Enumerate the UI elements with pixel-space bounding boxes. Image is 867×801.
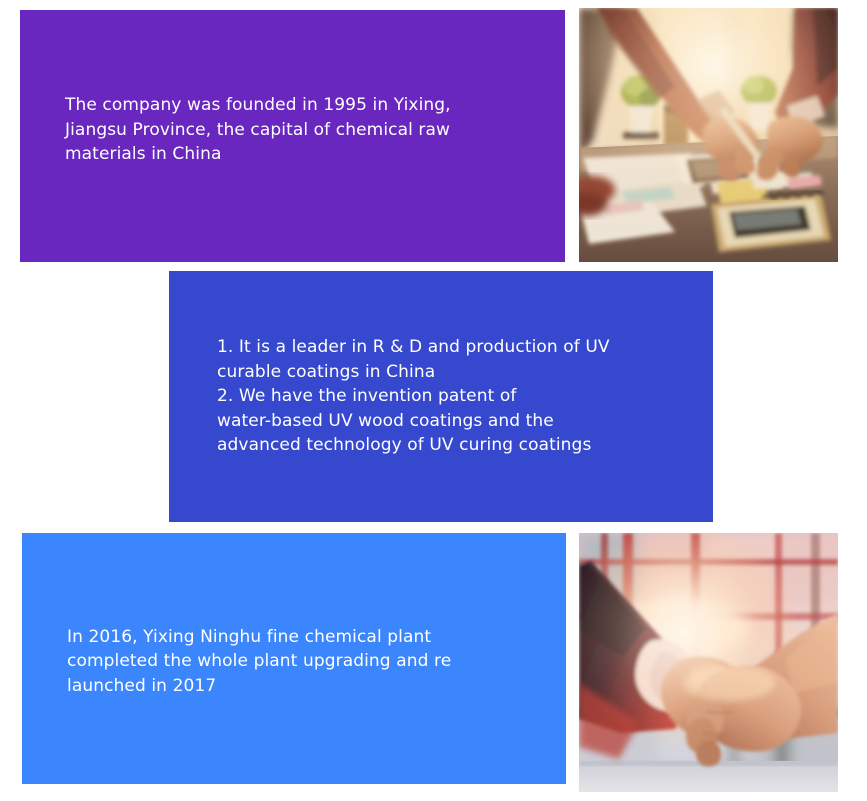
panel-rd-leadership: 1. It is a leader in R & D and productio… [169, 271, 713, 522]
handshake-photo [579, 533, 838, 792]
slide-canvas: The company was founded in 1995 in Yixin… [0, 0, 867, 801]
panel-founded-text: The company was founded in 1995 in Yixin… [20, 93, 471, 167]
panel-leadership-text: 1. It is a leader in R & D and productio… [169, 335, 630, 458]
panel-company-founded: The company was founded in 1995 in Yixin… [20, 10, 565, 262]
panel-upgrade-text: In 2016, Yixing Ninghu fine chemical pla… [22, 625, 471, 699]
desk-meeting-photo [579, 8, 838, 262]
panel-plant-upgrade: In 2016, Yixing Ninghu fine chemical pla… [22, 533, 566, 784]
